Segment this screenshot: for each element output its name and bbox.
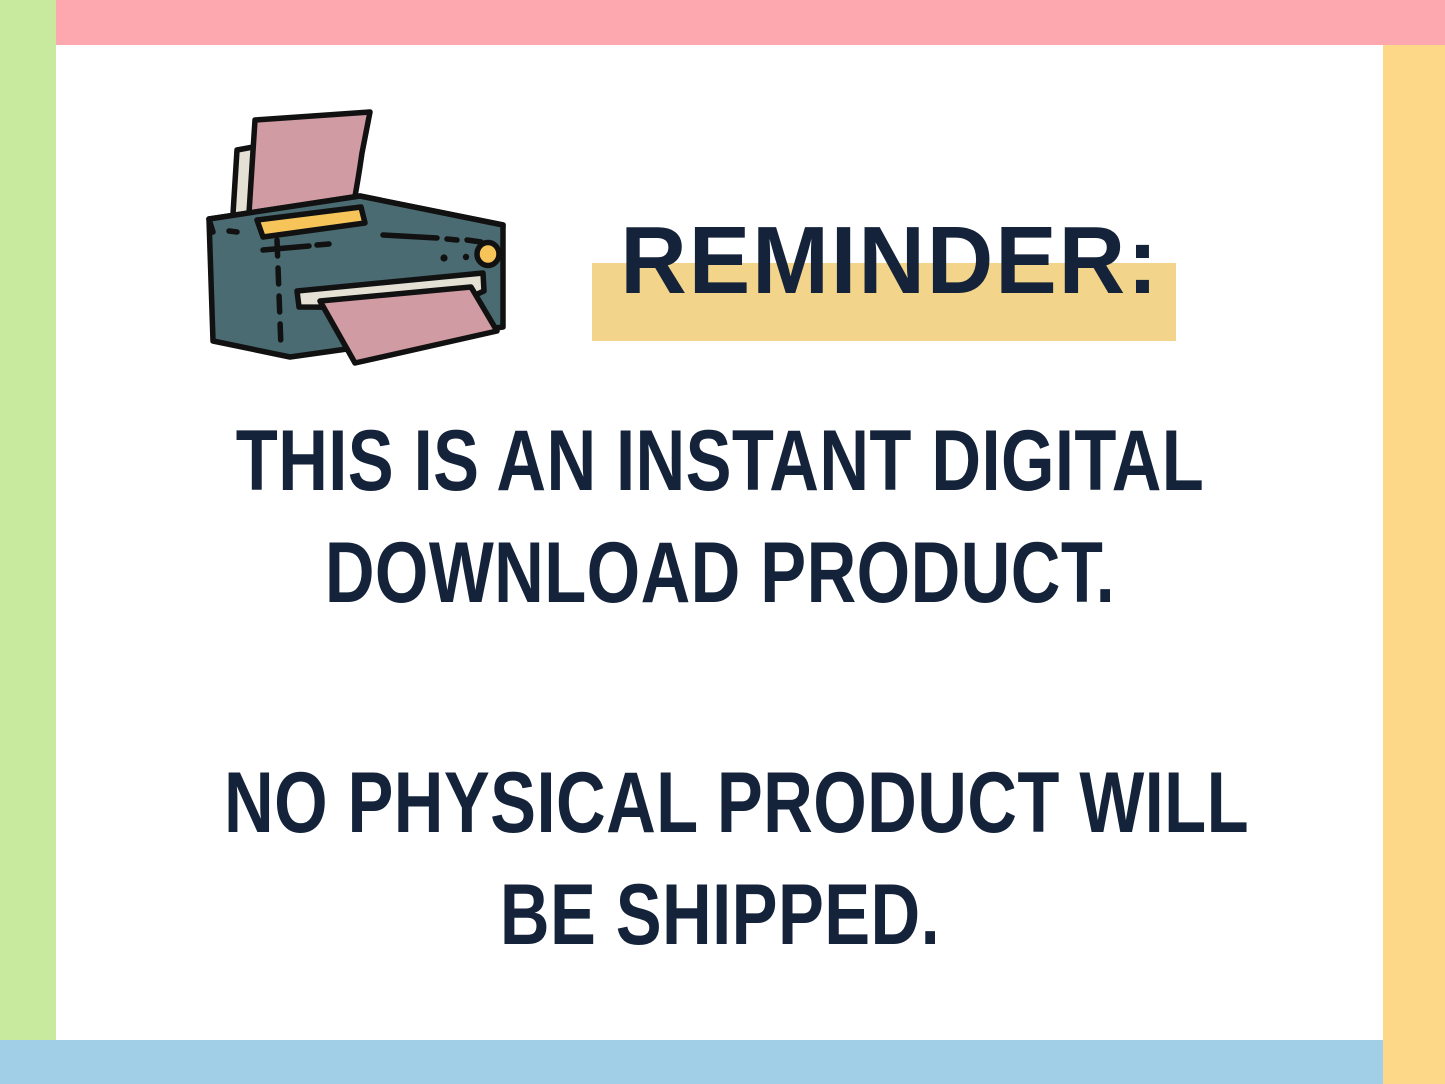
green-left-band [0, 0, 56, 1040]
body-line: DOWNLOAD PRODUCT. [224, 517, 1216, 629]
pink-top-band [56, 0, 1445, 45]
body-line: NO PHYSICAL PRODUCT WILL [224, 747, 1216, 859]
body-line: THIS IS AN INSTANT DIGITAL [224, 405, 1216, 517]
reminder-poster: REMINDER: THIS IS AN INSTANT DIGITAL DOW… [0, 0, 1445, 1084]
paragraph-instant-download: THIS IS AN INSTANT DIGITAL DOWNLOAD PROD… [100, 405, 1340, 629]
body-line: BE SHIPPED. [224, 859, 1216, 971]
page-title: REMINDER: [592, 205, 1187, 317]
paragraph-spacer [100, 629, 1340, 747]
printer-icon [185, 95, 545, 380]
paragraph-no-physical-product: NO PHYSICAL PRODUCT WILL BE SHIPPED. [100, 747, 1340, 971]
body-copy: THIS IS AN INSTANT DIGITAL DOWNLOAD PROD… [100, 405, 1340, 971]
yellow-right-band [1383, 45, 1445, 1084]
heading-block: REMINDER: [580, 205, 1200, 355]
blue-bottom-band [0, 1040, 1383, 1084]
